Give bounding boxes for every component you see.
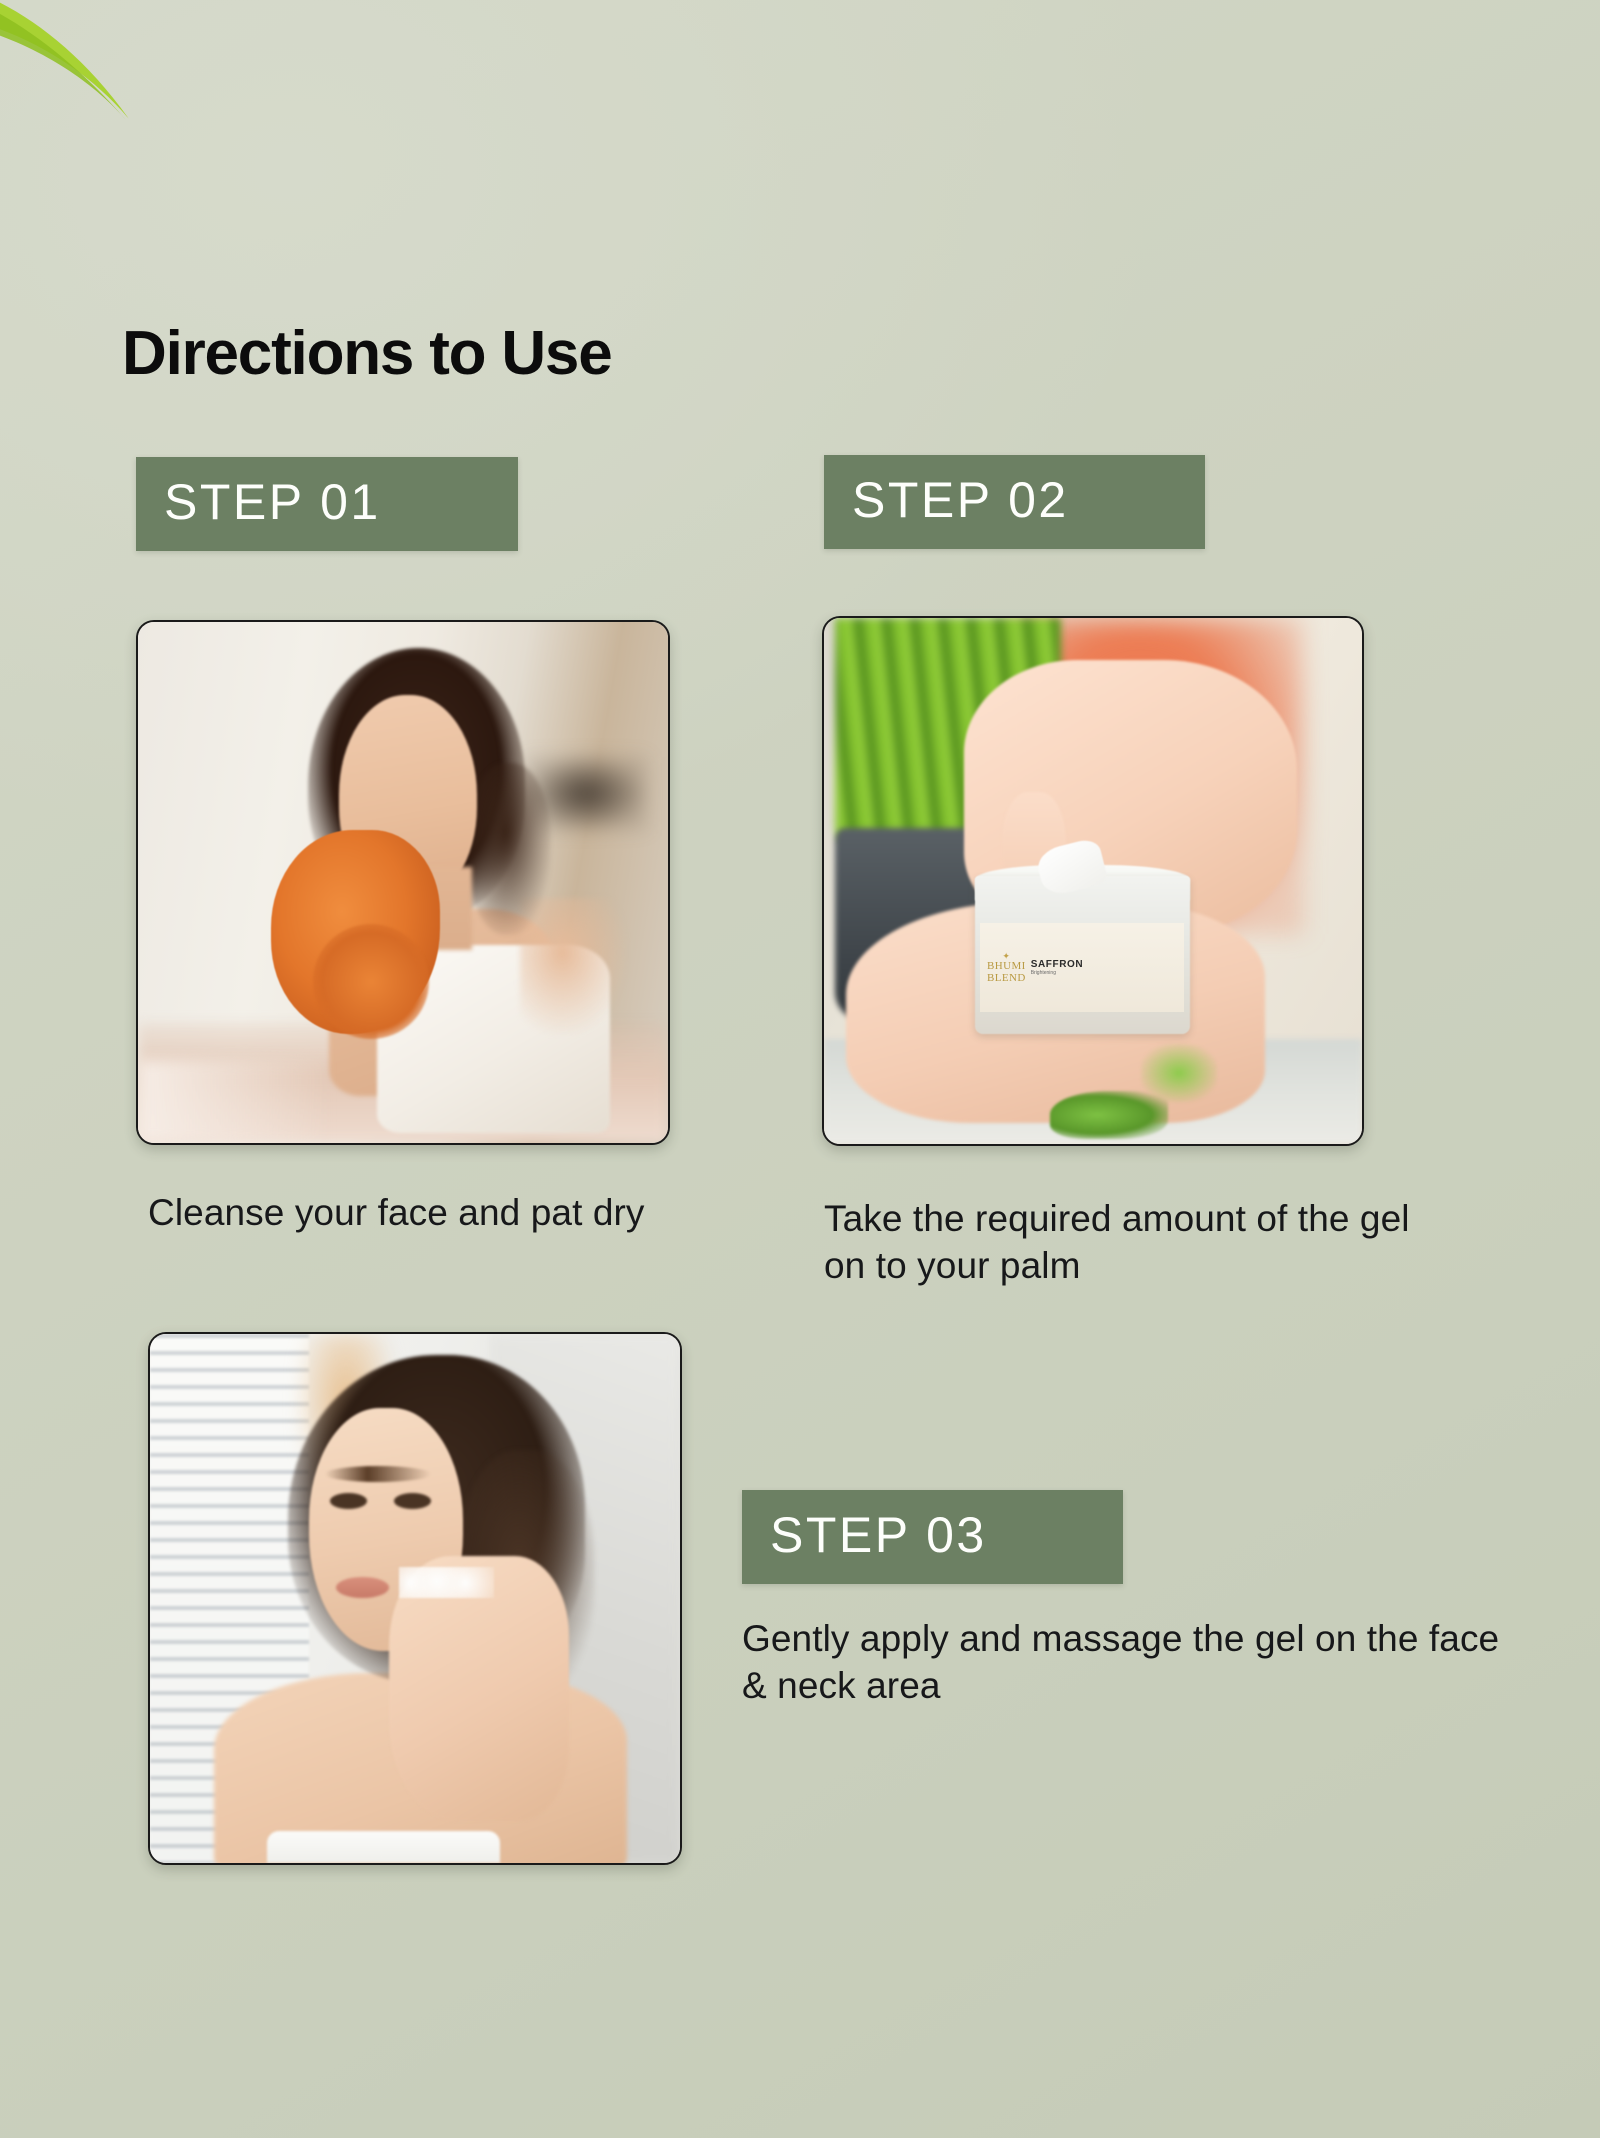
step-badge-label-2: STEP 02 — [852, 475, 1069, 525]
step-caption-1: Cleanse your face and pat dry — [148, 1190, 668, 1237]
step-badge-label-1: STEP 01 — [164, 477, 381, 527]
page-title: Directions to Use — [122, 318, 612, 389]
leaf-accent-icon — [0, 0, 224, 214]
step-caption-2: Take the required amount of the gel on t… — [824, 1196, 1424, 1289]
step-badge-2: STEP 02 — [824, 455, 1205, 549]
product-label: ✦ BHUMI BLEND SAFFRON Brightening — [980, 923, 1184, 1012]
product-tagline: Brightening — [1031, 970, 1084, 976]
brand-line-1: BHUMI — [987, 960, 1026, 972]
photo-massage-face — [150, 1334, 680, 1863]
step-photo-2: ✦ BHUMI BLEND SAFFRON Brightening — [822, 616, 1364, 1146]
step-photo-1 — [136, 620, 670, 1145]
product-name: SAFFRON — [1031, 959, 1084, 970]
brand-line-2: BLEND — [987, 972, 1026, 984]
step-badge-3: STEP 03 — [742, 1490, 1123, 1584]
step-badge-1: STEP 01 — [136, 457, 518, 551]
product-name-block: SAFFRON Brightening — [1031, 959, 1084, 976]
step-photo-3 — [148, 1332, 682, 1865]
photo-cleanse-face — [138, 622, 668, 1143]
directions-to-use-page: Directions to Use STEP 01 Cleanse your f… — [0, 0, 1600, 2138]
step-badge-label-3: STEP 03 — [770, 1510, 987, 1560]
step-caption-3: Gently apply and massage the gel on the … — [742, 1616, 1522, 1709]
photo-gel-on-palm: ✦ BHUMI BLEND SAFFRON Brightening — [824, 618, 1362, 1144]
product-brand: ✦ BHUMI BLEND — [987, 952, 1026, 985]
